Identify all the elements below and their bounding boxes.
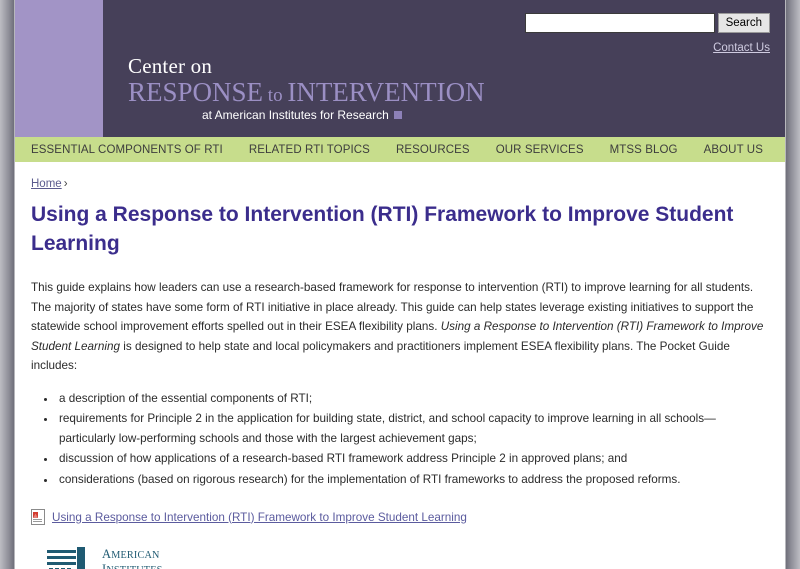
logo-line-center-on: Center on — [128, 55, 485, 78]
nav-item-resources[interactable]: RESOURCES — [396, 144, 470, 156]
site-header: Search Contact Us Center on RESPONSE to … — [15, 0, 785, 137]
search-area: Search — [525, 13, 770, 33]
list-item: discussion of how applications of a rese… — [57, 449, 767, 469]
header-accent-bar — [15, 0, 103, 137]
air-word-institutes: INSTITUTES — [102, 563, 183, 569]
main-navigation: ESSENTIAL COMPONENTS OF RTI RELATED RTI … — [15, 137, 785, 164]
air-logo[interactable]: AMERICAN INSTITUTES FOR RESEARCH — [47, 547, 749, 569]
air-logo-wordmark: AMERICAN INSTITUTES FOR RESEARCH — [102, 548, 183, 569]
search-button[interactable]: Search — [718, 13, 770, 33]
logo-word-response: RESPONSE — [128, 77, 263, 107]
intro-paragraph: This guide explains how leaders can use … — [31, 278, 767, 376]
page-shell: Search Contact Us Center on RESPONSE to … — [0, 0, 800, 569]
logo-tagline-text: at American Institutes for Research — [202, 108, 389, 122]
nav-item-mtss-blog[interactable]: MTSS BLOG — [610, 144, 678, 156]
air-columns-icon — [47, 547, 93, 569]
air-word-american: AMERICAN — [102, 548, 183, 563]
logo-word-to: to — [268, 85, 283, 106]
list-item: a description of the essential component… — [57, 389, 767, 409]
intro-paragraph-part2: is designed to help state and local poli… — [31, 340, 730, 373]
breadcrumb: Home› — [31, 178, 767, 190]
air-square-icon — [394, 111, 402, 119]
site-footer: AMERICAN INSTITUTES FOR RESEARCH 1000 Th… — [31, 547, 767, 569]
breadcrumb-link-home[interactable]: Home — [31, 178, 62, 190]
nav-item-related-rti-topics[interactable]: RELATED RTI TOPICS — [249, 144, 370, 156]
main-content: Home› Using a Response to Intervention (… — [15, 164, 785, 569]
nav-item-essential-components-of-rti[interactable]: ESSENTIAL COMPONENTS OF RTI — [31, 144, 223, 156]
logo-word-intervention: INTERVENTION — [287, 77, 484, 107]
page-title: Using a Response to Intervention (RTI) F… — [31, 200, 761, 258]
page-container: Search Contact Us Center on RESPONSE to … — [15, 0, 785, 569]
list-item: considerations (based on rigorous resear… — [57, 470, 767, 490]
air-word-american-cap: A — [102, 547, 111, 561]
pdf-document-icon — [31, 509, 45, 525]
search-input[interactable] — [525, 13, 715, 33]
nav-item-about-us[interactable]: ABOUT US — [704, 144, 763, 156]
site-logo[interactable]: Center on RESPONSE to INTERVENTION — [128, 55, 485, 110]
air-word-institutes-rest: NSTITUTES — [106, 565, 162, 569]
pocket-guide-contents-list: a description of the essential component… — [31, 389, 767, 490]
pdf-link-label[interactable]: Using a Response to Intervention (RTI) F… — [52, 511, 467, 524]
pdf-resource-link[interactable]: Using a Response to Intervention (RTI) F… — [31, 509, 767, 525]
nav-item-our-services[interactable]: OUR SERVICES — [496, 144, 584, 156]
list-item: requirements for Principle 2 in the appl… — [57, 409, 767, 448]
logo-line-response-to-intervention: RESPONSE to INTERVENTION — [128, 78, 485, 110]
breadcrumb-separator: › — [64, 178, 68, 190]
logo-tagline: at American Institutes for Research — [202, 108, 402, 122]
contact-us-link[interactable]: Contact Us — [713, 42, 770, 54]
air-word-american-rest: MERICAN — [111, 550, 159, 561]
